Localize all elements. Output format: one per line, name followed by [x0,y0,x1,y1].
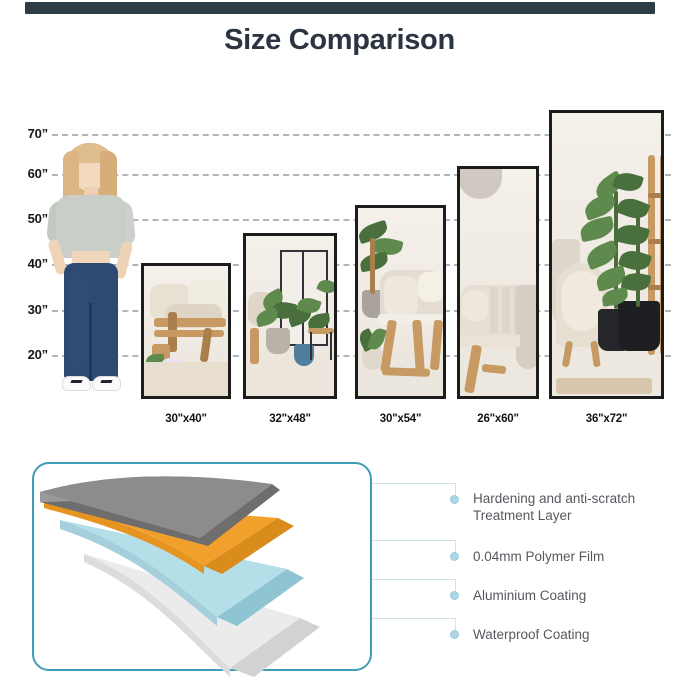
crop-top [56,195,126,258]
callout-dot-3 [450,591,459,600]
size-label-26x60: 26"x60" [457,413,539,425]
mirror-scene-4 [460,169,536,396]
layer-sheets-graphic [32,462,377,677]
size-label-36x72: 36"x72" [549,413,664,425]
mirror-26x60[interactable] [457,166,539,399]
callout-dot-2 [450,552,459,561]
mirror-scene-3 [358,208,443,396]
infographic-page: Size Comparison 70” 60” 50” 40” 30” 20” [0,0,679,681]
shoe-left [62,376,91,391]
callout-label-3: Aluminium Coating [473,587,586,604]
mirror-30x40[interactable] [141,263,231,399]
mirror-30x54[interactable] [355,205,446,399]
mirror-scene-5 [552,113,661,396]
top-accent-bar [25,2,655,14]
connector-line-2 [372,540,455,541]
leg-separation [89,303,92,381]
mirror-scene-2 [246,236,334,396]
axis-tick-70: 70” [2,126,48,141]
size-comparison-chart: 70” 60” 50” 40” 30” 20” [0,100,679,435]
jeans-highlight [69,269,87,369]
mirror-32x48[interactable] [243,233,337,399]
mirror-36x72[interactable] [549,110,664,399]
callout-dot-4 [450,630,459,639]
connector-line-4 [372,618,455,619]
callout-label-4: Waterproof Coating [473,626,590,643]
size-label-30x40: 30"x40" [141,413,231,425]
connector-line-1 [372,483,455,484]
person-reference-figure [38,143,143,399]
callout-label-1-line2: Treatment Layer [473,507,635,524]
callout-label-2: 0.04mm Polymer Film [473,548,604,565]
callout-label-1: Hardening and anti-scratch Treatment Lay… [473,490,635,524]
callout-label-1-line1: Hardening and anti-scratch [473,490,635,507]
size-label-32x48: 32"x48" [243,413,337,425]
callout-dot-1 [450,495,459,504]
mirror-scene-1 [144,266,228,396]
shoe-right [92,376,121,391]
layer-structure-section: Hardening and anti-scratch Treatment Lay… [0,452,679,681]
page-title: Size Comparison [0,24,679,57]
connector-line-3 [372,579,455,580]
size-label-30x54: 30"x54" [355,413,446,425]
